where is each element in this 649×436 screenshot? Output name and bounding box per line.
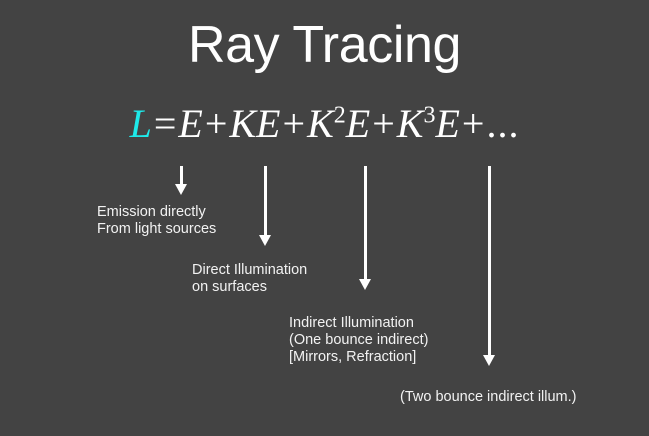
arrow-head <box>259 235 271 246</box>
arrow-to-direct-illumination-term <box>259 166 272 246</box>
equation-term-K3-exponent: 3 <box>423 103 435 129</box>
annotation-line: Emission directly <box>97 204 216 221</box>
annotation-line: (One bounce indirect) <box>289 332 428 349</box>
annotation-line: Direct Illumination <box>192 262 307 279</box>
arrow-to-indirect-illumination-term <box>359 166 372 290</box>
rendering-equation: L=E+KE+K2E+K3E+... <box>0 100 649 148</box>
arrow-head <box>483 355 495 366</box>
arrow-shaft <box>180 166 183 184</box>
equation-term-K2-E: E <box>346 101 370 146</box>
equation-plus-3: + <box>370 101 397 146</box>
annotation-emission: Emission directly From light sources <box>97 204 216 238</box>
annotation-indirect-illumination: Indirect Illumination (One bounce indire… <box>289 315 428 366</box>
equation-term-L: L <box>130 101 152 146</box>
page-title: Ray Tracing <box>0 16 649 74</box>
equation-equals-sign: = <box>152 101 179 146</box>
equation-ellipsis: ... <box>486 101 519 146</box>
annotation-line: [Mirrors, Refraction] <box>289 349 428 366</box>
equation-term-K2-exponent: 2 <box>334 103 346 129</box>
annotation-direct-illumination: Direct Illumination on surfaces <box>192 262 307 296</box>
annotation-line: From light sources <box>97 221 216 238</box>
annotation-line: Indirect Illumination <box>289 315 428 332</box>
arrow-shaft <box>264 166 267 235</box>
arrow-to-two-bounce-term <box>483 166 496 366</box>
equation-plus-2: + <box>281 101 308 146</box>
equation-term-KE: KE <box>229 101 280 146</box>
equation-term-K3-E: E <box>435 101 459 146</box>
equation-plus-4: + <box>460 101 487 146</box>
equation-term-E: E <box>178 101 202 146</box>
arrow-head <box>175 184 187 195</box>
slide-canvas: Ray Tracing L=E+KE+K2E+K3E+... Emission … <box>0 0 649 436</box>
arrow-shaft <box>364 166 367 279</box>
equation-term-K2-base: K <box>307 101 334 146</box>
equation-term-K3-base: K <box>397 101 424 146</box>
arrow-head <box>359 279 371 290</box>
annotation-line: on surfaces <box>192 279 307 296</box>
arrow-to-emission-term <box>175 166 188 195</box>
equation-plus-1: + <box>203 101 230 146</box>
annotation-two-bounce: (Two bounce indirect illum.) <box>400 389 577 406</box>
annotation-line: (Two bounce indirect illum.) <box>400 389 577 406</box>
arrow-shaft <box>488 166 491 355</box>
